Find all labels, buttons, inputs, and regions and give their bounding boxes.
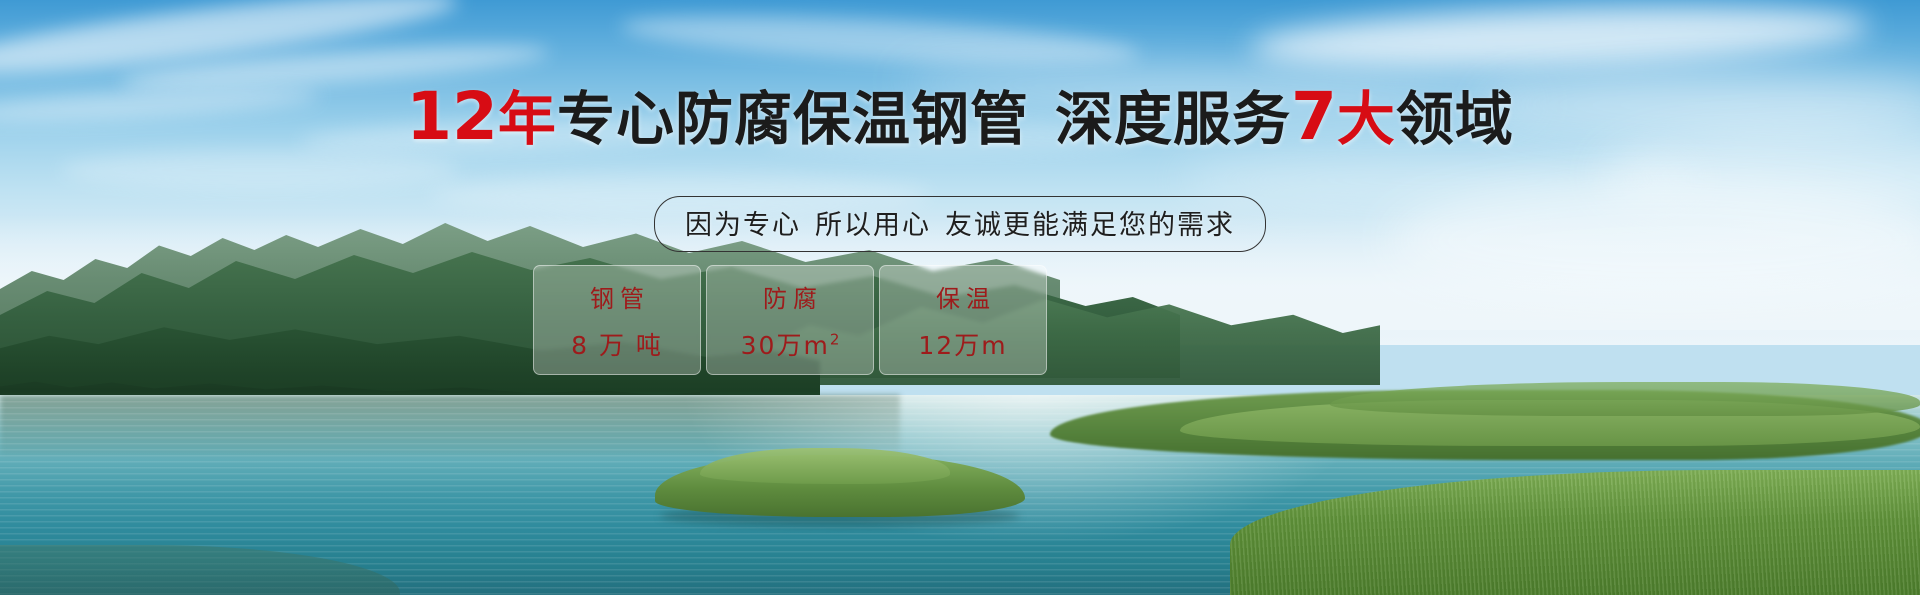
stat-card-value-text: 30万m <box>741 331 830 360</box>
stat-card-anticorrosion[interactable]: 防腐 30万m2 <box>706 265 874 375</box>
subtitle-part-2: 所以用心 <box>815 210 931 241</box>
headline-fields-text: 领域 <box>1396 85 1514 153</box>
cloud-wisp <box>60 150 460 190</box>
stat-card-value: 8 万 吨 <box>571 326 663 362</box>
stat-card-value: 12万m <box>918 326 1007 362</box>
hero-banner: 12年专心防腐保温钢管深度服务7大领域 因为专心所以用心友诚更能满足您的需求 钢… <box>0 0 1920 595</box>
headline-years-number: 12 <box>406 78 498 155</box>
headline-main-text: 专心防腐保温钢管 <box>557 85 1029 153</box>
headline-service-text: 深度服务 <box>1055 85 1291 153</box>
headline-years-unit: 年 <box>498 85 557 153</box>
stat-card-label: 保温 <box>930 279 996 314</box>
subtitle-pill: 因为专心所以用心友诚更能满足您的需求 <box>654 196 1266 252</box>
headline-fields-number: 7 <box>1291 78 1337 155</box>
cloud-wisp <box>619 6 1140 73</box>
stat-card-value-text: 12万m <box>918 331 1007 360</box>
subtitle-part-1: 因为专心 <box>685 210 801 241</box>
stat-card-insulation[interactable]: 保温 12万m <box>879 265 1047 375</box>
stat-card-label: 防腐 <box>757 279 823 314</box>
stat-card-label: 钢管 <box>584 279 650 314</box>
stat-card-value-superscript: 2 <box>830 330 840 348</box>
subtitle-part-3: 友诚更能满足您的需求 <box>945 210 1235 241</box>
marsh-patch <box>1330 382 1920 416</box>
stat-card-value: 30万m2 <box>741 326 840 362</box>
headline-fields-big: 大 <box>1337 85 1396 153</box>
stat-card-value-text: 8 万 吨 <box>571 331 663 360</box>
stat-cards: 钢管 8 万 吨 防腐 30万m2 保温 12万m <box>533 265 1047 375</box>
headline: 12年专心防腐保温钢管深度服务7大领域 <box>0 84 1920 150</box>
stat-card-steel-pipe[interactable]: 钢管 8 万 吨 <box>533 265 701 375</box>
cloud <box>1249 0 1871 77</box>
